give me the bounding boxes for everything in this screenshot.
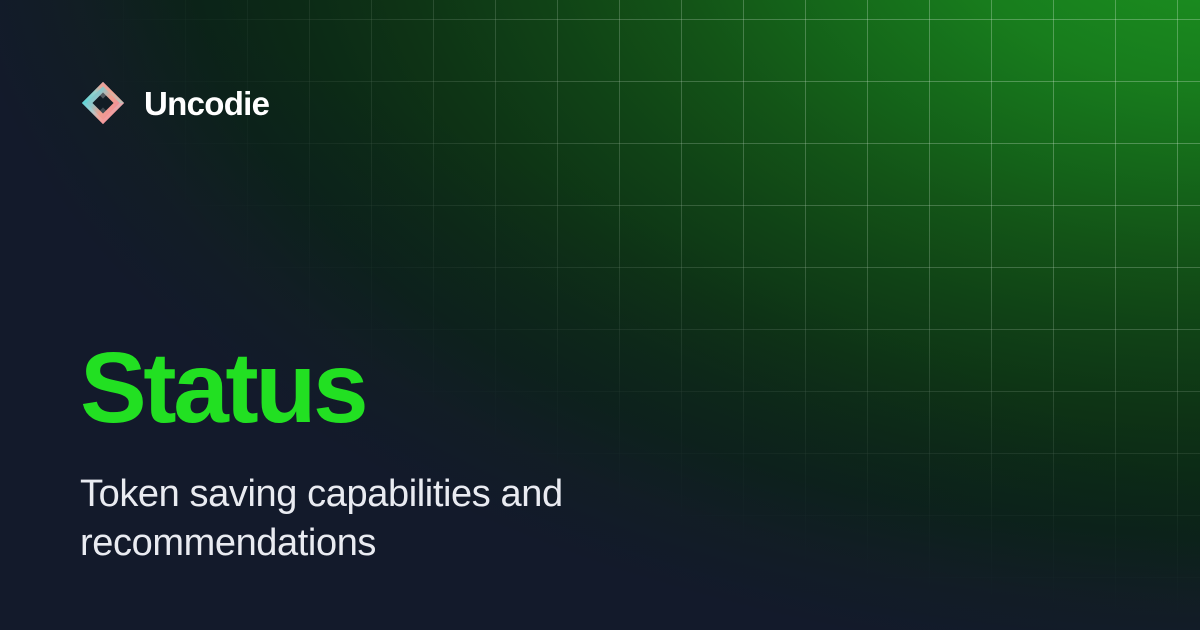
page-title: Status (80, 340, 840, 436)
diamond-gradient-icon (80, 80, 126, 126)
brand-name: Uncodie (144, 87, 269, 120)
og-status-card: Uncodie Status Token saving capabilities… (0, 0, 1200, 630)
brand-lockup: Uncodie (80, 80, 269, 126)
page-subtitle: Token saving capabilities and recommenda… (80, 470, 640, 569)
hero-content: Status Token saving capabilities and rec… (80, 340, 840, 569)
